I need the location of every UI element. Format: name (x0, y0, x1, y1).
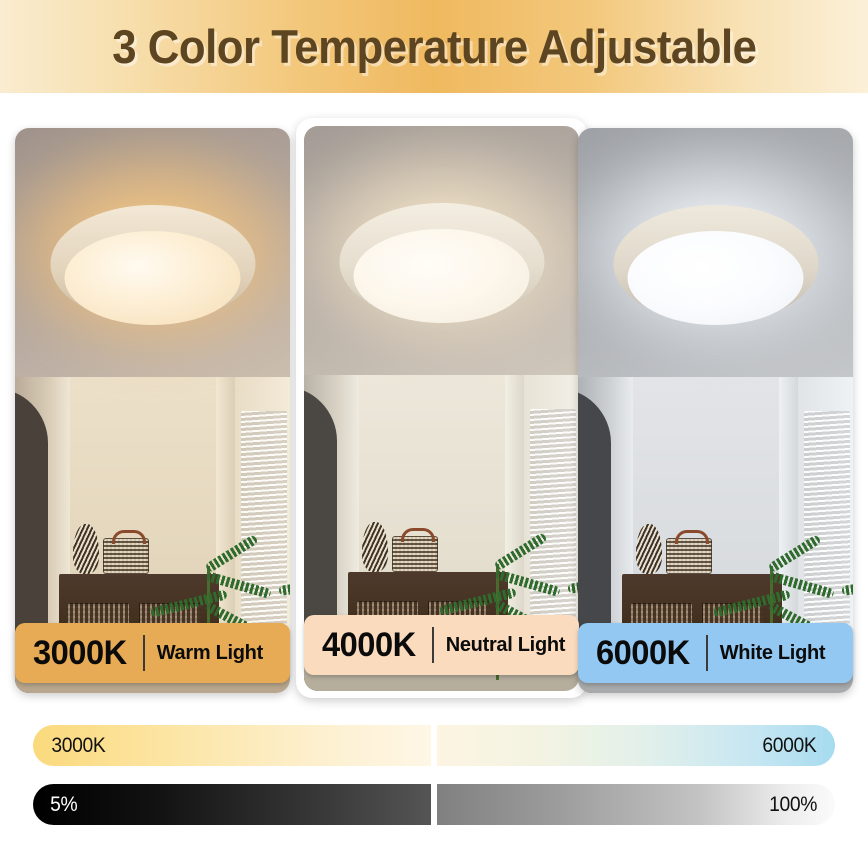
dimming-max-label: 100% (769, 793, 817, 817)
cct-kelvin-value: 6000K (596, 634, 690, 673)
plant-frond (493, 532, 547, 571)
scene-panels: 3000K Warm Light 4000K Neutral Light 600… (0, 118, 868, 693)
ceiling-lamp (50, 205, 255, 323)
page-title: 3 Color Temperature Adjustable (112, 19, 756, 74)
cct-name-label: Neutral Light (446, 634, 565, 657)
badge-divider (706, 635, 708, 671)
woven-vase (73, 524, 99, 574)
cct-min-label: 3000K (51, 734, 105, 758)
plant-frond (278, 576, 290, 596)
cct-badge-white[interactable]: 6000K White Light (578, 623, 853, 683)
scene-panel-white[interactable] (578, 128, 853, 693)
badge-divider (143, 635, 145, 671)
dimming-min-label: 5% (50, 793, 77, 817)
lamp-lens (627, 231, 803, 325)
cct-slider-cool-half[interactable]: 6000K (437, 725, 835, 766)
cct-name-label: Warm Light (157, 642, 263, 665)
room-scene (578, 128, 853, 693)
woven-vase (636, 524, 662, 574)
cct-name-label: White Light (720, 642, 826, 665)
dimming-slider-low-half[interactable]: 5% (33, 784, 431, 825)
scene-panel-neutral[interactable] (304, 126, 579, 691)
plant-frond (767, 534, 821, 573)
room-scene (304, 126, 579, 691)
room-scene (15, 128, 290, 693)
color-temperature-slider[interactable]: 3000K 6000K (33, 725, 835, 766)
infographic-root: 3 Color Temperature Adjustable (0, 0, 868, 868)
ceiling-lamp (339, 203, 544, 321)
lamp-lens (64, 231, 240, 325)
header-banner: 3 Color Temperature Adjustable (0, 0, 868, 93)
woven-vase (362, 522, 388, 572)
cct-kelvin-value: 4000K (322, 626, 416, 665)
lamp-lens (353, 229, 529, 323)
dimming-slider-high-half[interactable]: 100% (437, 784, 835, 825)
plant-frond (204, 534, 258, 573)
cct-kelvin-value: 3000K (33, 634, 127, 673)
scene-panel-warm[interactable] (15, 128, 290, 693)
ceiling-lamp (613, 205, 818, 323)
plant-frond (841, 576, 853, 596)
cct-slider-warm-half[interactable]: 3000K (33, 725, 431, 766)
cct-badge-warm[interactable]: 3000K Warm Light (15, 623, 290, 683)
cct-badge-neutral[interactable]: 4000K Neutral Light (304, 615, 579, 675)
badge-divider (432, 627, 434, 663)
cct-max-label: 6000K (763, 734, 817, 758)
dimming-slider[interactable]: 5% 100% (33, 784, 835, 825)
slider-bars: 3000K 6000K 5% 100% (0, 714, 868, 834)
